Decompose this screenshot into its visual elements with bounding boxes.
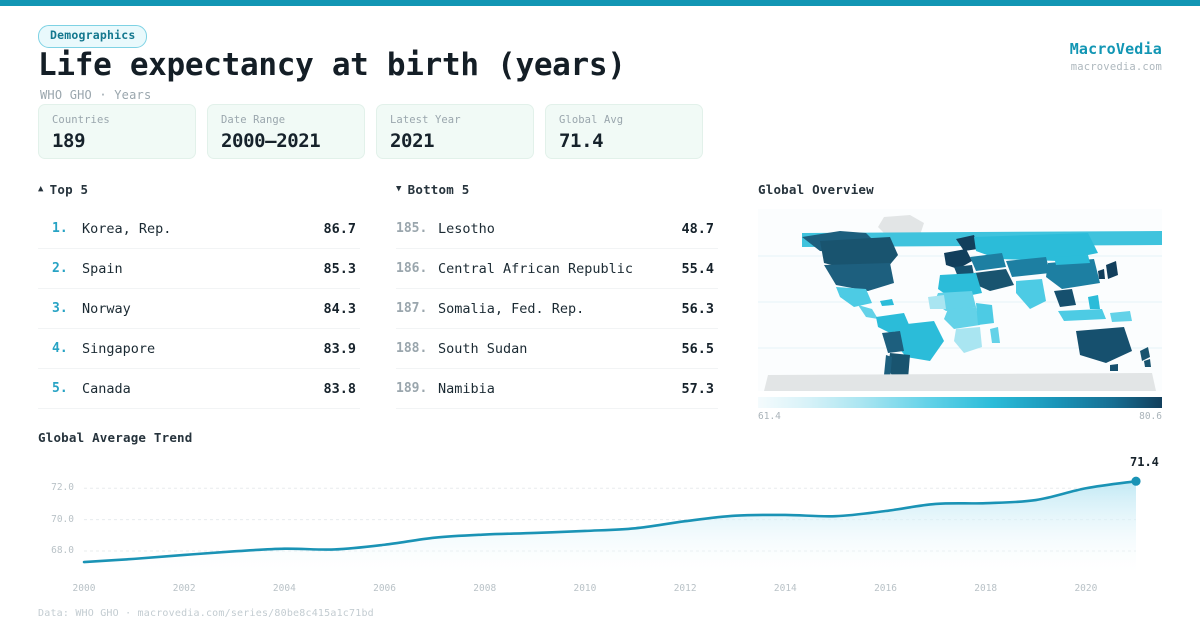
rank-row[interactable]: 188.South Sudan56.5 <box>396 329 718 369</box>
metric-value: 56.3 <box>666 301 718 317</box>
footer-attribution: Data: WHO GHO · macrovedia.com/series/80… <box>38 608 374 619</box>
country-name: Namibia <box>438 381 666 397</box>
bottom-5-heading-label: Bottom 5 <box>408 182 470 197</box>
stat-card-label: Latest Year <box>390 114 533 126</box>
metric-value: 56.5 <box>666 341 718 357</box>
trend-heading: Global Average Trend <box>38 430 1162 445</box>
stat-card: Countries189 <box>38 104 196 159</box>
rank-row[interactable]: 186.Central African Republic55.4 <box>396 249 718 289</box>
stat-card-label: Global Avg <box>559 114 702 126</box>
x-axis-tick-label: 2006 <box>363 583 407 594</box>
country-name: Canada <box>82 381 304 397</box>
x-axis-tick-label: 2012 <box>663 583 707 594</box>
top-5-heading: ▲ Top 5 <box>38 182 360 197</box>
rank-number: 1. <box>52 221 82 236</box>
rank-row[interactable]: 5.Canada83.8 <box>38 369 360 409</box>
legend-min-value: 61.4 <box>758 411 781 422</box>
bottom-5-panel: ▼ Bottom 5 185.Lesotho48.7186.Central Af… <box>396 182 718 409</box>
rank-number: 189. <box>396 381 438 396</box>
stat-card-value: 2000–2021 <box>221 130 364 152</box>
rank-number: 187. <box>396 301 438 316</box>
rank-row[interactable]: 185.Lesotho48.7 <box>396 209 718 249</box>
stat-card: Global Avg71.4 <box>545 104 703 159</box>
trend-end-label: 71.4 <box>1130 455 1159 469</box>
map-heading: Global Overview <box>758 182 1162 197</box>
y-axis-tick-label: 72.0 <box>38 482 74 493</box>
rank-number: 185. <box>396 221 438 236</box>
top-5-panel: ▲ Top 5 1.Korea, Rep.86.72.Spain85.33.No… <box>38 182 360 409</box>
metric-value: 84.3 <box>304 301 360 317</box>
country-name: Lesotho <box>438 221 666 237</box>
x-axis-tick-label: 2008 <box>463 583 507 594</box>
x-axis-tick-label: 2010 <box>563 583 607 594</box>
stat-card-value: 189 <box>52 130 195 152</box>
y-axis-tick-label: 68.0 <box>38 545 74 556</box>
rank-row[interactable]: 3.Norway84.3 <box>38 289 360 329</box>
metric-value: 55.4 <box>666 261 718 277</box>
metric-value: 48.7 <box>666 221 718 237</box>
triangle-up-icon: ▲ <box>38 185 44 194</box>
metric-value: 83.8 <box>304 381 360 397</box>
country-name: Singapore <box>82 341 304 357</box>
global-overview-panel: Global Overview <box>758 182 1162 422</box>
metric-value: 86.7 <box>304 221 360 237</box>
stat-card-value: 71.4 <box>559 130 702 152</box>
rank-row[interactable]: 2.Spain85.3 <box>38 249 360 289</box>
rank-row[interactable]: 1.Korea, Rep.86.7 <box>38 209 360 249</box>
trend-chart[interactable]: 71.4 68.070.072.020002002200420062008201… <box>38 457 1162 607</box>
world-choropleth-map[interactable] <box>758 209 1162 391</box>
page-title: Life expectancy at birth (years) <box>38 47 626 83</box>
stat-card: Date Range2000–2021 <box>207 104 365 159</box>
country-name: Central African Republic <box>438 261 666 277</box>
map-svg <box>758 209 1162 391</box>
x-axis-tick-label: 2020 <box>1064 583 1108 594</box>
x-axis-tick-label: 2004 <box>262 583 306 594</box>
rank-number: 2. <box>52 261 82 276</box>
bottom-5-list: 185.Lesotho48.7186.Central African Repub… <box>396 209 718 409</box>
trend-area <box>84 481 1136 573</box>
rank-number: 188. <box>396 341 438 356</box>
trend-panel: Global Average Trend 71.4 68.070.072.020… <box>38 430 1162 607</box>
stat-card: Latest Year2021 <box>376 104 534 159</box>
x-axis-tick-label: 2014 <box>763 583 807 594</box>
country-name: Spain <box>82 261 304 277</box>
rank-number: 186. <box>396 261 438 276</box>
category-badge[interactable]: Demographics <box>38 25 147 48</box>
x-axis-tick-label: 2018 <box>964 583 1008 594</box>
y-axis-tick-label: 70.0 <box>38 514 74 525</box>
stat-card-label: Date Range <box>221 114 364 126</box>
metric-value: 85.3 <box>304 261 360 277</box>
rank-row[interactable]: 4.Singapore83.9 <box>38 329 360 369</box>
brand[interactable]: MacroVedia macrovedia.com <box>1070 40 1162 73</box>
page-subtitle: WHO GHO · Years <box>40 88 151 102</box>
country-name: South Sudan <box>438 341 666 357</box>
map-colorbar <box>758 397 1162 408</box>
rank-row[interactable]: 189.Namibia57.3 <box>396 369 718 409</box>
rank-number: 3. <box>52 301 82 316</box>
x-axis-tick-label: 2002 <box>162 583 206 594</box>
metric-value: 57.3 <box>666 381 718 397</box>
metric-value: 83.9 <box>304 341 360 357</box>
page-header: Demographics Life expectancy at birth (y… <box>0 6 1200 102</box>
triangle-down-icon: ▼ <box>396 185 402 194</box>
country-name: Somalia, Fed. Rep. <box>438 301 666 317</box>
stat-card-value: 2021 <box>390 130 533 152</box>
brand-url: macrovedia.com <box>1070 61 1162 73</box>
x-axis-tick-label: 2016 <box>864 583 908 594</box>
stat-card-label: Countries <box>52 114 195 126</box>
brand-name: MacroVedia <box>1070 40 1162 58</box>
country-name: Norway <box>82 301 304 317</box>
top-5-list: 1.Korea, Rep.86.72.Spain85.33.Norway84.3… <box>38 209 360 409</box>
map-legend-scale: 61.4 80.6 <box>758 411 1162 422</box>
legend-max-value: 80.6 <box>1139 411 1162 422</box>
rank-number: 5. <box>52 381 82 396</box>
stat-card-group: Countries189Date Range2000–2021Latest Ye… <box>38 104 703 159</box>
x-axis-tick-label: 2000 <box>62 583 106 594</box>
country-name: Korea, Rep. <box>82 221 304 237</box>
top-5-heading-label: Top 5 <box>50 182 89 197</box>
rank-row[interactable]: 187.Somalia, Fed. Rep.56.3 <box>396 289 718 329</box>
trend-end-point <box>1131 477 1140 486</box>
rank-number: 4. <box>52 341 82 356</box>
bottom-5-heading: ▼ Bottom 5 <box>396 182 718 197</box>
